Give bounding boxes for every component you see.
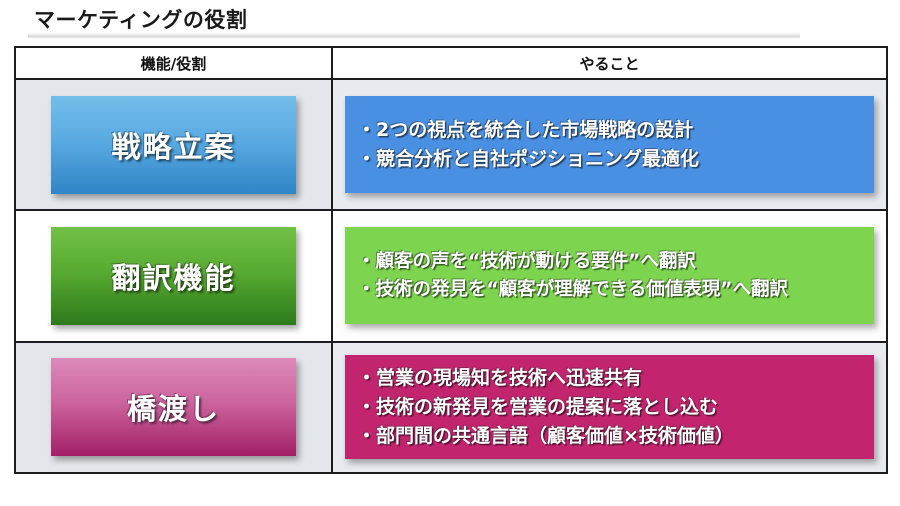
task-bullet: ・競合分析と自社ポジショニング最適化 [357, 146, 864, 173]
tasks-block-bridge: ・営業の現場知を技術へ迅速共有 ・技術の新発見を営業の提案に落とし込む ・部門間… [345, 355, 874, 459]
page-title: マーケティングの役割 [34, 4, 247, 34]
table-row: 戦略立案 ・2つの視点を統合した市場戦略の設計 ・競合分析と自社ポジショニング最… [16, 80, 886, 211]
role-chip-translation: 翻訳機能 [51, 227, 296, 325]
role-cell-translation: 翻訳機能 [16, 211, 333, 340]
title-divider [28, 32, 800, 39]
roles-table: 機能/役割 やること 戦略立案 ・2つの視点を統合した市場戦略の設計 ・競合分析… [14, 46, 888, 474]
tasks-cell-translation: ・顧客の声を“技術が動ける要件”へ翻訳 ・技術の発見を“顧客が理解できる価値表現… [333, 211, 886, 340]
table-header-row: 機能/役割 やること [16, 48, 886, 80]
role-cell-bridge: 橋渡し [16, 343, 333, 472]
task-bullet: ・顧客の声を“技術が動ける要件”へ翻訳 [357, 249, 864, 275]
tasks-block-strategy: ・2つの視点を統合した市場戦略の設計 ・競合分析と自社ポジショニング最適化 [345, 96, 874, 193]
task-bullet: ・技術の発見を“顧客が理解できる価値表現”へ翻訳 [357, 277, 864, 303]
task-bullet: ・営業の現場知を技術へ迅速共有 [357, 365, 864, 392]
tasks-cell-bridge: ・営業の現場知を技術へ迅速共有 ・技術の新発見を営業の提案に落とし込む ・部門間… [333, 343, 886, 472]
role-cell-strategy: 戦略立案 [16, 80, 333, 209]
task-bullet: ・部門間の共通言語（顧客価値×技術価値） [357, 423, 864, 450]
table-row: 翻訳機能 ・顧客の声を“技術が動ける要件”へ翻訳 ・技術の発見を“顧客が理解でき… [16, 211, 886, 342]
role-chip-label: 橋渡し [127, 386, 220, 428]
task-bullet: ・2つの視点を統合した市場戦略の設計 [357, 117, 864, 144]
task-bullet: ・技術の新発見を営業の提案に落とし込む [357, 394, 864, 421]
role-chip-label: 戦略立案 [111, 124, 235, 166]
column-header-tasks: やること [333, 48, 886, 78]
table-row: 橋渡し ・営業の現場知を技術へ迅速共有 ・技術の新発見を営業の提案に落とし込む … [16, 343, 886, 472]
role-chip-label: 翻訳機能 [111, 255, 235, 297]
role-chip-strategy: 戦略立案 [51, 96, 296, 194]
column-header-function: 機能/役割 [16, 48, 333, 78]
tasks-block-translation: ・顧客の声を“技術が動ける要件”へ翻訳 ・技術の発見を“顧客が理解できる価値表現… [345, 227, 874, 324]
role-chip-bridge: 橋渡し [51, 358, 296, 456]
tasks-cell-strategy: ・2つの視点を統合した市場戦略の設計 ・競合分析と自社ポジショニング最適化 [333, 80, 886, 209]
